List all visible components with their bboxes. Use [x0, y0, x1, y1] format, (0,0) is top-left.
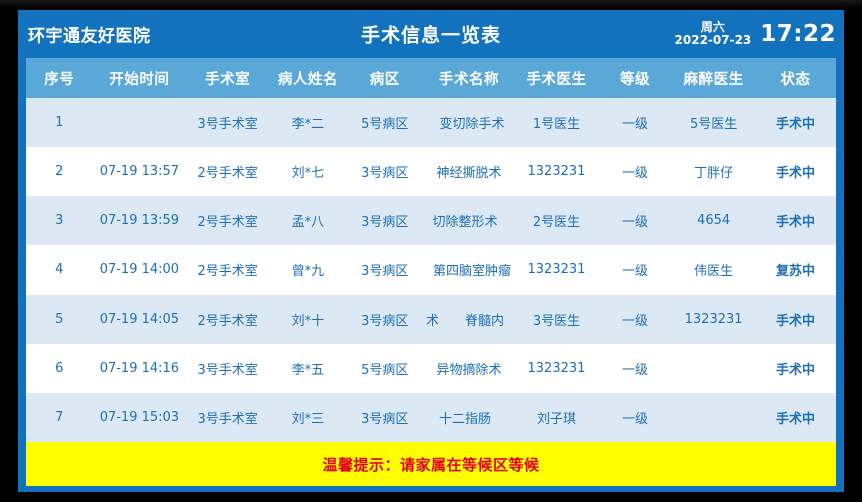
- cell-room: 3号手术室: [186, 393, 269, 442]
- cell-surgeon: 3号医生: [515, 295, 598, 344]
- table-row[interactable]: 307-19 13:592号手术室孟*八3号病区切除整形术2号医生一级4654手…: [26, 196, 836, 245]
- cell-room: 3号手术室: [186, 98, 269, 147]
- cell-ward: 3号病区: [347, 295, 423, 344]
- cell-patient: 李*五: [269, 344, 347, 393]
- cell-ward: 5号病区: [347, 344, 423, 393]
- cell-room: 2号手术室: [186, 245, 269, 294]
- cell-start-time: 07-19 14:05: [92, 295, 186, 344]
- table-row[interactable]: 13号手术室李*二5号病区变切除手术1号医生一级5号医生手术中: [26, 98, 836, 147]
- cell-index: 2: [26, 147, 92, 196]
- display-panel: 环宇通友好医院 手术信息一览表 周六 2022-07-23 17:22: [18, 10, 844, 492]
- table-row[interactable]: 707-19 15:033号手术室刘*三3号病区十二指肠刘子琪一级手术中: [26, 393, 836, 442]
- table-row[interactable]: 607-19 14:163号手术室李*五5号病区异物摘除术1323231一级手术…: [26, 344, 836, 393]
- cell-status: 手术中: [755, 393, 836, 442]
- cell-level: 一级: [598, 393, 673, 442]
- cell-start-time: 07-19 14:00: [92, 245, 186, 294]
- cell-surgery: 第四脑室肿瘤: [423, 245, 515, 294]
- cell-level: 一级: [598, 147, 673, 196]
- cell-anes: [672, 344, 755, 393]
- cell-anes: [672, 393, 755, 442]
- cell-status: 手术中: [755, 98, 836, 147]
- cell-level: 一级: [598, 245, 673, 294]
- cell-surgery: 神经撕脱术: [423, 147, 515, 196]
- cell-room: 2号手术室: [186, 295, 269, 344]
- cell-surgery: 术 脊髓内: [423, 295, 515, 344]
- cell-ward: 3号病区: [347, 393, 423, 442]
- surgery-name-text: 切除整形术: [423, 211, 515, 230]
- clock-label: 17:22: [760, 21, 836, 47]
- table-row[interactable]: 207-19 13:572号手术室刘*七3号病区神经撕脱术1323231一级丁胖…: [26, 147, 836, 196]
- col-header-room: 手术室: [186, 58, 269, 98]
- cell-ward: 5号病区: [347, 98, 423, 147]
- col-header-surgeon: 手术医生: [515, 58, 598, 98]
- cell-room: 3号手术室: [186, 344, 269, 393]
- col-header-level: 等级: [598, 58, 673, 98]
- cell-patient: 孟*八: [269, 196, 347, 245]
- cell-anes: 1323231: [672, 295, 755, 344]
- cell-ward: 3号病区: [347, 196, 423, 245]
- surgery-name-text: 神经撕脱术: [423, 162, 515, 181]
- cell-anes: 5号医生: [672, 98, 755, 147]
- cell-room: 2号手术室: [186, 196, 269, 245]
- cell-ward: 3号病区: [347, 245, 423, 294]
- date-label: 2022-07-23: [675, 34, 752, 47]
- cell-surgeon: 1323231: [515, 245, 598, 294]
- cell-level: 一级: [598, 98, 673, 147]
- cell-surgeon: 1323231: [515, 344, 598, 393]
- cell-patient: 曾*九: [269, 245, 347, 294]
- col-header-ward: 病区: [347, 58, 423, 98]
- table-body: 13号手术室李*二5号病区变切除手术1号医生一级5号医生手术中207-19 13…: [26, 98, 836, 442]
- cell-patient: 刘*三: [269, 393, 347, 442]
- cell-surgeon: 2号医生: [515, 196, 598, 245]
- cell-level: 一级: [598, 344, 673, 393]
- cell-surgery: 异物摘除术: [423, 344, 515, 393]
- cell-status: 手术中: [755, 344, 836, 393]
- screen-bezel: 环宇通友好医院 手术信息一览表 周六 2022-07-23 17:22: [0, 0, 862, 502]
- cell-surgery: 切除整形术: [423, 196, 515, 245]
- surgery-name-text: 异物摘除术: [423, 359, 515, 378]
- cell-anes: 伟医生: [672, 245, 755, 294]
- cell-room: 2号手术室: [186, 147, 269, 196]
- cell-start-time: 07-19 15:03: [92, 393, 186, 442]
- cell-status: 复苏中: [755, 245, 836, 294]
- surgery-name-text: 第四脑室肿瘤: [423, 260, 515, 279]
- cell-index: 3: [26, 196, 92, 245]
- cell-index: 1: [26, 98, 92, 147]
- cell-index: 4: [26, 245, 92, 294]
- table-header: 序号 开始时间 手术室 病人姓名 病区 手术名称 手术医生 等级 麻醉医生 状态: [26, 58, 836, 98]
- cell-index: 6: [26, 344, 92, 393]
- cell-patient: 刘*七: [269, 147, 347, 196]
- cell-anes: 4654: [672, 196, 755, 245]
- footer-notice: 温馨提示：请家属在等候区等候: [26, 442, 836, 486]
- cell-patient: 李*二: [269, 98, 347, 147]
- surgery-name-text: 术 脊髓内: [423, 310, 515, 329]
- cell-level: 一级: [598, 196, 673, 245]
- surgery-table: 序号 开始时间 手术室 病人姓名 病区 手术名称 手术医生 等级 麻醉医生 状态…: [26, 58, 836, 442]
- cell-start-time: [92, 98, 186, 147]
- cell-start-time: 07-19 13:59: [92, 196, 186, 245]
- table-row[interactable]: 407-19 14:002号手术室曾*九3号病区第四脑室肿瘤1323231一级伟…: [26, 245, 836, 294]
- date-stack: 周六 2022-07-23: [675, 21, 752, 47]
- col-header-index: 序号: [26, 58, 92, 98]
- cell-ward: 3号病区: [347, 147, 423, 196]
- cell-surgeon: 1323231: [515, 147, 598, 196]
- cell-surgeon: 刘子琪: [515, 393, 598, 442]
- col-header-start-time: 开始时间: [92, 58, 186, 98]
- col-header-surgery: 手术名称: [423, 58, 515, 98]
- cell-anes: 丁胖仔: [672, 147, 755, 196]
- col-header-anes: 麻醉医生: [672, 58, 755, 98]
- cell-surgeon: 1号医生: [515, 98, 598, 147]
- table-header-row: 序号 开始时间 手术室 病人姓名 病区 手术名称 手术医生 等级 麻醉医生 状态: [26, 58, 836, 98]
- col-header-status: 状态: [755, 58, 836, 98]
- datetime-block: 周六 2022-07-23 17:22: [675, 21, 836, 47]
- cell-status: 手术中: [755, 295, 836, 344]
- cell-index: 7: [26, 393, 92, 442]
- cell-status: 手术中: [755, 196, 836, 245]
- cell-index: 5: [26, 295, 92, 344]
- surgery-name-text: 十二指肠: [423, 408, 515, 427]
- cell-surgery: 变切除手术: [423, 98, 515, 147]
- col-header-patient: 病人姓名: [269, 58, 347, 98]
- cell-surgery: 十二指肠: [423, 393, 515, 442]
- header-bar: 环宇通友好医院 手术信息一览表 周六 2022-07-23 17:22: [18, 10, 844, 58]
- cell-start-time: 07-19 13:57: [92, 147, 186, 196]
- table-row[interactable]: 507-19 14:052号手术室刘*十3号病区术 脊髓内3号医生一级13232…: [26, 295, 836, 344]
- surgery-name-text: 变切除手术: [423, 113, 515, 132]
- cell-patient: 刘*十: [269, 295, 347, 344]
- cell-level: 一级: [598, 295, 673, 344]
- table-container: 序号 开始时间 手术室 病人姓名 病区 手术名称 手术医生 等级 麻醉医生 状态…: [18, 58, 844, 442]
- cell-start-time: 07-19 14:16: [92, 344, 186, 393]
- cell-status: 手术中: [755, 147, 836, 196]
